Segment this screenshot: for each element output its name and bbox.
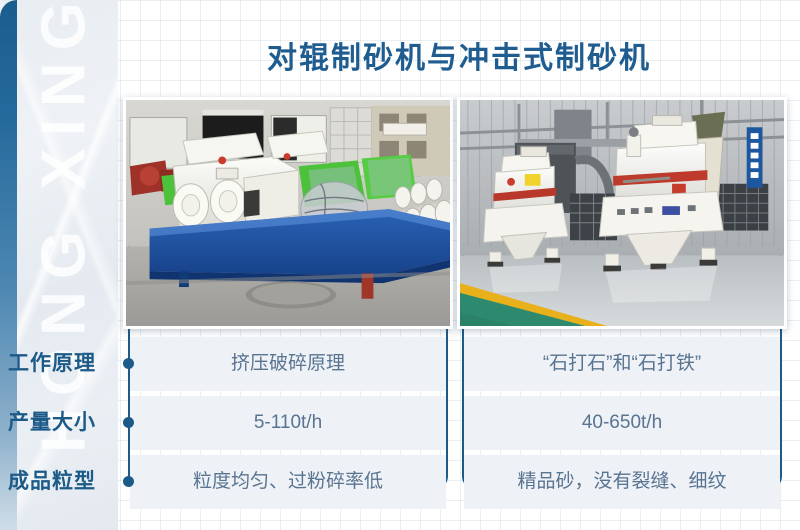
cell-right-capacity: 40-650t/h: [464, 396, 780, 450]
page-title: 对辊制砂机与冲击式制砂机: [118, 33, 800, 77]
left-decor-panel: HONG XING: [0, 0, 118, 530]
left-accent-bar: [0, 0, 17, 530]
infographic-canvas: HONG XING 对辊制砂机与冲击式制砂机: [0, 0, 800, 530]
row-label-working-principle: 工作原理: [8, 337, 112, 391]
cell-left-capacity: 5-110t/h: [130, 396, 446, 450]
product-photo-double-roller: [123, 97, 453, 329]
cell-left-working-principle: 挤压破碎原理: [130, 337, 446, 391]
cell-right-grain-shape: 精品砂，没有裂缝、细纹: [464, 455, 780, 509]
cell-left-grain-shape: 粒度均匀、过粉碎率低: [130, 455, 446, 509]
cell-right-working-principle: “石打石”和“石打铁”: [464, 337, 780, 391]
vsi-sand-maker-illustration: [460, 100, 784, 326]
row-label-capacity: 产量大小: [8, 396, 112, 450]
row-label-grain-shape: 成品粒型: [8, 455, 112, 509]
product-photo-impact-vsi: [457, 97, 787, 329]
double-roller-machine-illustration: [126, 100, 450, 326]
